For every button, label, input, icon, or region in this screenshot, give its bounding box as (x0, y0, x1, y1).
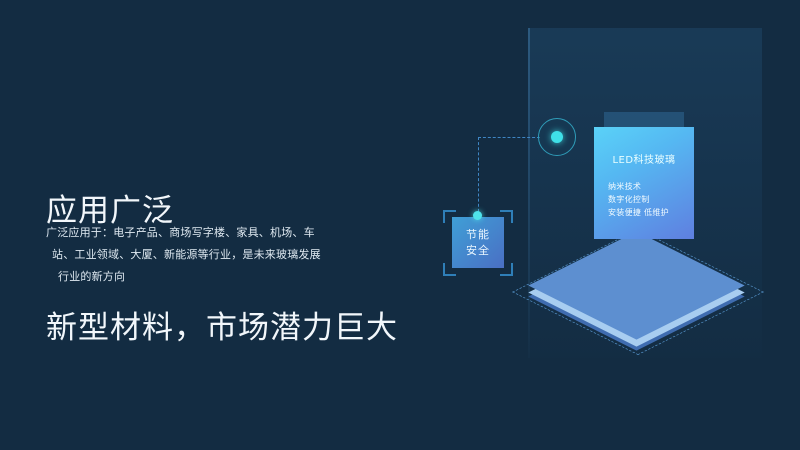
body-line-3: 行业的新方向 (46, 266, 376, 288)
slide-canvas: 应用广泛 新型材料，市场潜力巨大 广泛应用于：电子产品、商场写字楼、家具、机场、… (0, 0, 800, 450)
feature-badge: 节能 安全 (452, 217, 504, 268)
dashed-connector-vertical-icon (478, 137, 479, 217)
body-line-2: 站、工业领域、大厦、新能源等行业，是未来玻璃发展 (46, 244, 376, 266)
body-line-1: 广泛应用于：电子产品、商场写字楼、家具、机场、车 (46, 222, 376, 244)
badge-dot-icon (473, 211, 482, 220)
badge-line-1: 节能 (466, 227, 490, 243)
dashed-connector-horizontal-icon (478, 137, 540, 138)
circle-node-dot-icon (551, 131, 563, 143)
panel-feature-list: 纳米技术 数字化控制 安装便捷 低维护 (608, 180, 669, 219)
panel-title: LED科技玻璃 (594, 151, 694, 166)
panel-feature-3: 安装便捷 低维护 (608, 206, 669, 219)
platform-top-face (528, 231, 744, 339)
panel-feature-2: 数字化控制 (608, 193, 669, 206)
isometric-platform-icon (529, 233, 745, 345)
panel-feature-1: 纳米技术 (608, 180, 669, 193)
led-glass-panel: LED科技玻璃 纳米技术 数字化控制 安装便捷 低维护 (594, 127, 694, 239)
badge-line-2: 安全 (466, 243, 490, 259)
title-line-2: 新型材料，市场潜力巨大 (46, 309, 398, 348)
body-paragraph: 广泛应用于：电子产品、商场写字楼、家具、机场、车 站、工业领域、大厦、新能源等行… (46, 222, 376, 288)
